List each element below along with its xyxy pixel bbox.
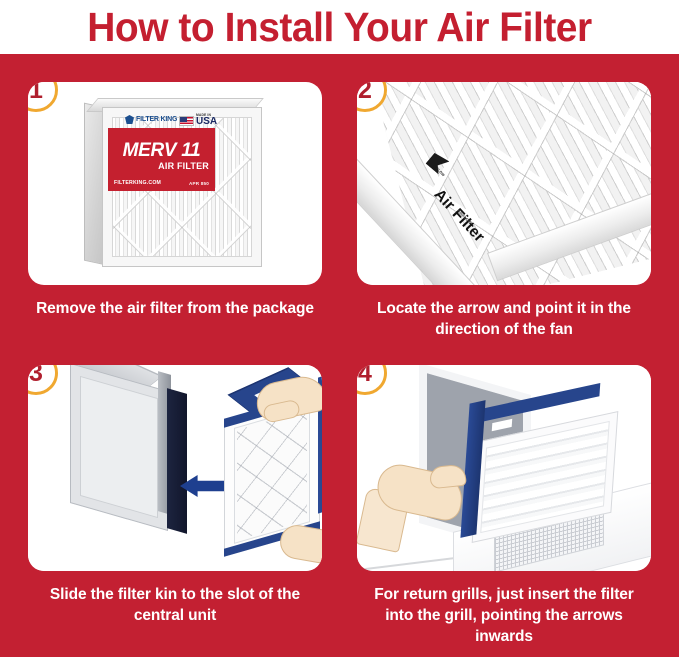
step-1-caption: Remove the air filter from the package: [28, 298, 322, 319]
caption-line: direction of the fan: [357, 319, 651, 340]
filter-king-logo: FILTER KING: [125, 115, 177, 124]
brand-name-label: FILTER KING: [136, 116, 177, 123]
step-2-number: 2: [358, 82, 372, 103]
step-1-number: 1: [29, 82, 43, 103]
made-in-usa-badge: MADE IN USA: [179, 114, 217, 127]
step-4-caption: For return grills, just insert the filte…: [357, 584, 651, 647]
us-flag-icon: [179, 116, 194, 126]
step-1-illustration: FILTER KING MADE IN USA MERV 11: [28, 82, 322, 285]
step-4-illustration: [357, 365, 651, 571]
caption-line: Remove the air filter from the package: [28, 298, 322, 319]
caption-line: central unit: [28, 605, 322, 626]
caption-line: Locate the arrow and point it in the: [357, 298, 651, 319]
filter-front-face: FILTER KING MADE IN USA MERV 11: [102, 107, 262, 267]
air-filter-product-image: FILTER KING MADE IN USA MERV 11: [84, 98, 266, 270]
step-2-illustration: FLOW Air Filter AIRFLOW: [357, 82, 651, 285]
step-3-number: 3: [29, 365, 43, 386]
caption-line: For return grills, just insert the filte…: [357, 584, 651, 605]
country-label: USA: [196, 117, 217, 127]
step-2-card: FLOW Air Filter AIRFLOW 2: [357, 82, 651, 285]
caption-line: into the grill, pointing the arrows: [357, 605, 651, 626]
step-4-card: 4: [357, 365, 651, 571]
website-label: FILTERKING.COM: [114, 180, 161, 186]
crown-icon: [125, 115, 134, 124]
red-background-panel: FILTER KING MADE IN USA MERV 11: [0, 54, 679, 657]
filter-slot-opening: [167, 388, 187, 534]
apr-rating-label: APR 850: [189, 181, 209, 186]
central-unit-face: [70, 365, 168, 531]
step-4-number: 4: [358, 365, 372, 386]
filter-red-label: MERV 11 AIR FILTER FILTERKING.COM APR 85…: [108, 128, 215, 191]
caption-line: Slide the filter kin to the slot of the: [28, 584, 322, 605]
step-3-illustration: [28, 365, 322, 571]
merv-rating-label: MERV 11: [114, 141, 209, 160]
grill-louvers: [480, 421, 610, 533]
filter-pleated-media: [234, 406, 310, 544]
step-2: FLOW Air Filter AIRFLOW 2 Locate the arr…: [357, 82, 651, 340]
step-4: 4 For return grills, just insert the fil…: [357, 365, 651, 647]
step-1: FILTER KING MADE IN USA MERV 11: [28, 82, 322, 319]
title-bar: How to Install Your Air Filter: [0, 0, 679, 54]
step-3: 3 Slide the filter kin to the slot of th…: [28, 365, 322, 626]
caption-line: inwards: [357, 626, 651, 647]
step-3-card: 3: [28, 365, 322, 571]
product-type-label: AIR FILTER: [114, 161, 209, 171]
step-2-caption: Locate the arrow and point it in the dir…: [357, 298, 651, 340]
step-1-card: FILTER KING MADE IN USA MERV 11: [28, 82, 322, 285]
step-3-caption: Slide the filter kin to the slot of the …: [28, 584, 322, 626]
infographic-root: How to Install Your Air Filter: [0, 0, 679, 657]
made-in-usa-text: MADE IN USA: [196, 114, 217, 127]
page-title: How to Install Your Air Filter: [87, 7, 591, 48]
